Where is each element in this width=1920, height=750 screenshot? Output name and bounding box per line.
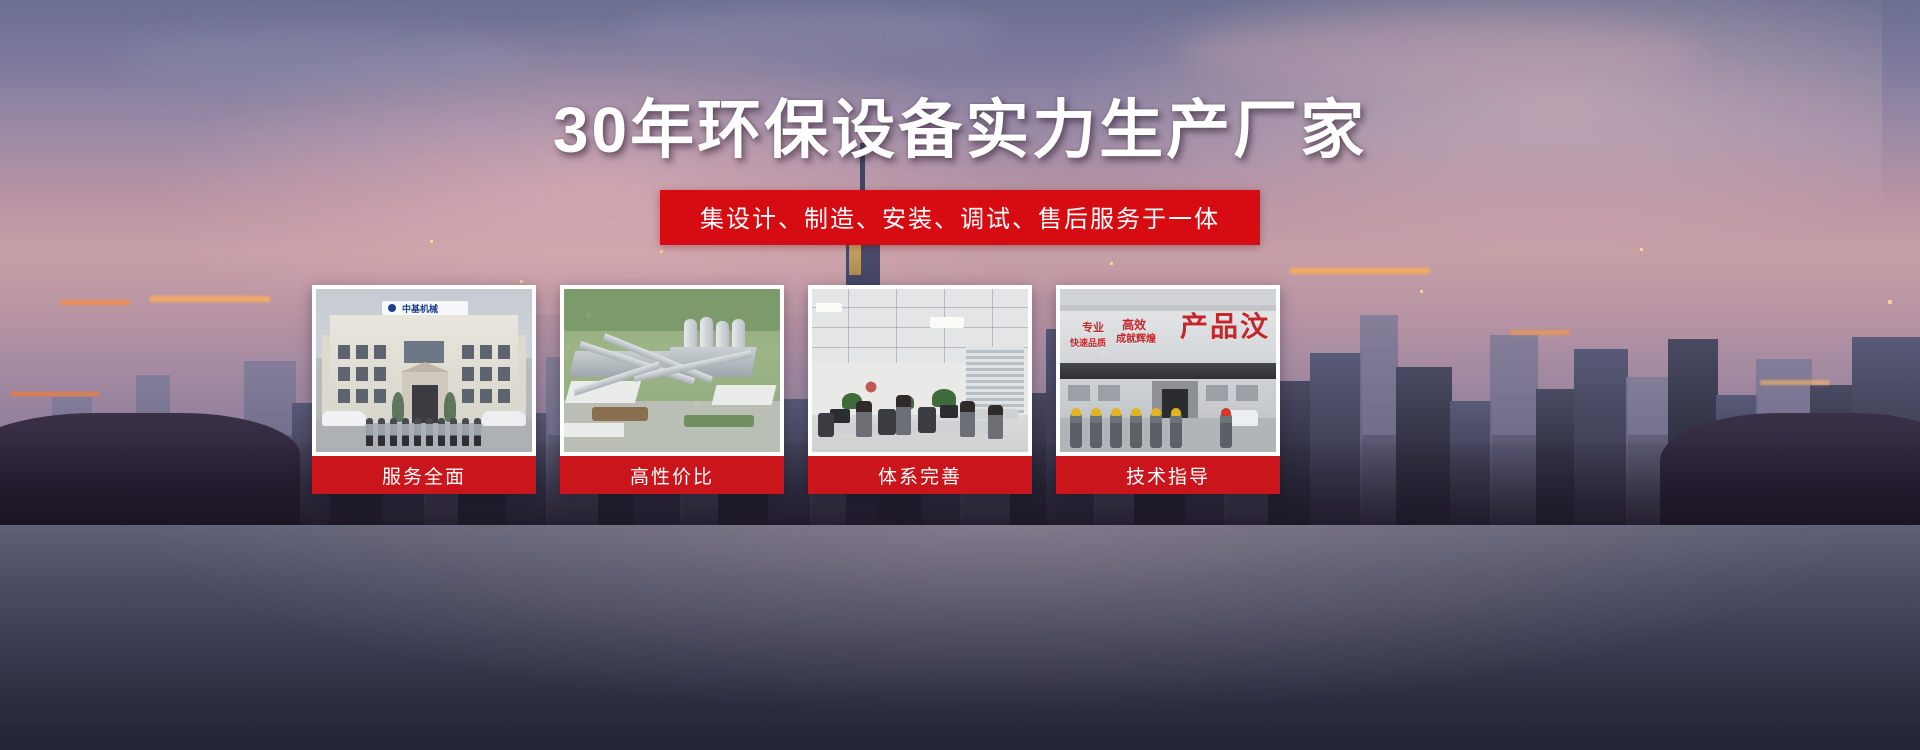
banner-subtitle: 集设计、制造、安装、调试、售后服务于一体	[660, 190, 1260, 245]
wall-decal	[858, 375, 884, 395]
card-photo-factory-training: 产品汶 高效 成就辉煌 专业 快速品质	[1060, 289, 1276, 452]
card-caption: 技术指导	[1056, 456, 1280, 494]
feature-card[interactable]: 中基机械	[312, 285, 536, 494]
hero-banner: 30年环保设备实力生产厂家 集设计、制造、安装、调试、售后服务于一体 中基机械	[0, 0, 1920, 750]
feature-card[interactable]: 产品汶 高效 成就辉煌 专业 快速品质	[1056, 285, 1280, 494]
card-photo-production-plant: ⌾ ⌾	[564, 289, 780, 452]
feature-card[interactable]: ⌾ ⌾ 体系完善	[808, 285, 1032, 494]
building-sign-text: 中基机械	[402, 302, 438, 315]
feature-card[interactable]: ⌾ ⌾ 高性价比	[560, 285, 784, 494]
factory-wall-text-3: 快速品质	[1070, 339, 1106, 348]
factory-wall-text-2: 高效	[1122, 319, 1146, 331]
factory-wall-text-1: 专业	[1082, 323, 1104, 334]
card-photo-office-interior: ⌾ ⌾	[812, 289, 1028, 452]
banner-headline: 30年环保设备实力生产厂家	[0, 98, 1920, 162]
card-caption: 体系完善	[808, 456, 1032, 494]
building-sign: 中基机械	[382, 301, 468, 315]
card-photo-office-building: 中基机械	[316, 289, 532, 452]
feature-card-list: 中基机械	[312, 285, 1280, 494]
factory-banner-text: 产品汶	[1180, 313, 1270, 341]
card-caption: 服务全面	[312, 456, 536, 494]
card-caption: 高性价比	[560, 456, 784, 494]
factory-wall-text-4: 成就辉煌	[1116, 335, 1156, 345]
